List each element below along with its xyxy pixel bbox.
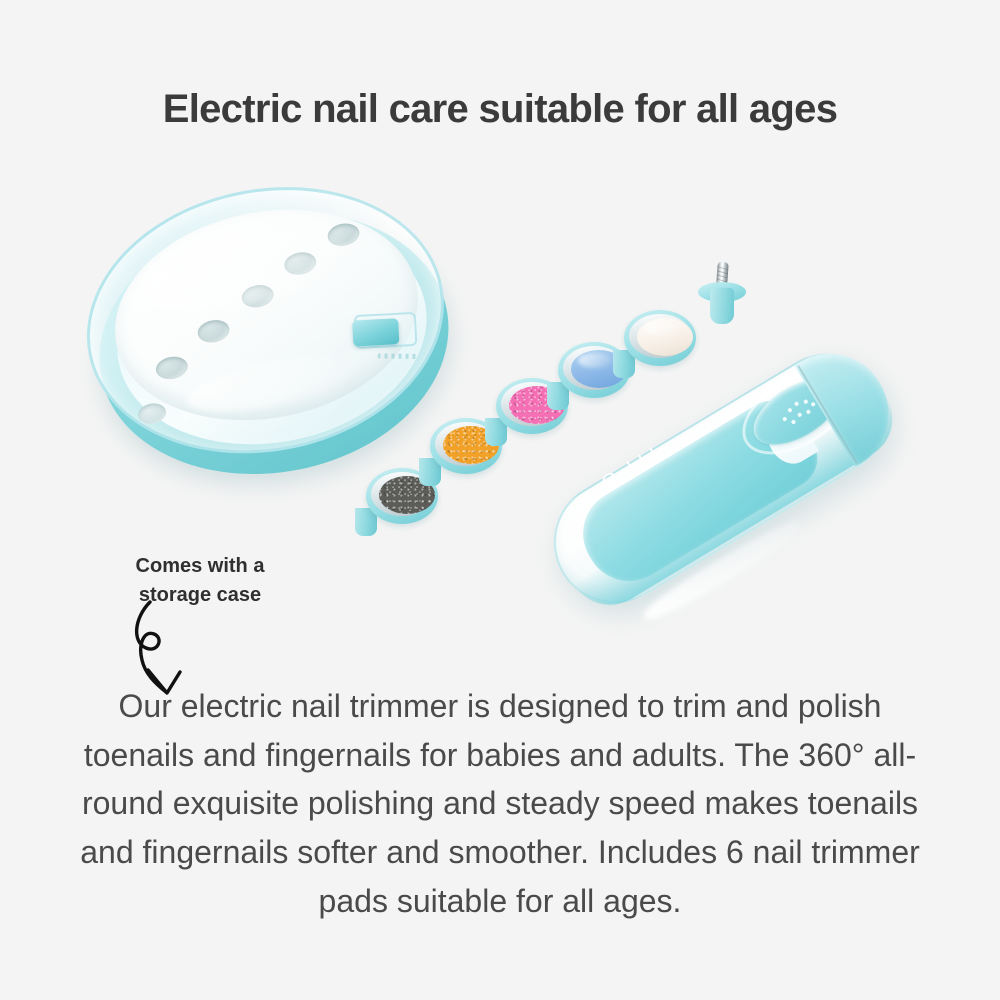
- pad-highlight: [644, 321, 679, 336]
- description-paragraph: Our electric nail trimmer is designed to…: [62, 682, 938, 925]
- pad-surface-cream: [637, 318, 693, 356]
- lid-highlight: [135, 214, 355, 325]
- case-vents: [378, 353, 418, 359]
- case-clasp[interactable]: [352, 318, 399, 346]
- pad-slot: [196, 317, 232, 345]
- annotation-line-1: Comes with a: [60, 552, 340, 581]
- tray-highlight: [182, 347, 357, 423]
- annotation-line-2: storage case: [60, 581, 340, 610]
- pad-metal-cone-tip: [698, 262, 746, 324]
- product-marketing-image: Electric nail care suitable for all ages: [0, 0, 1000, 1000]
- annotation-caption: Comes with a storage case: [60, 552, 340, 610]
- tip-slot: [136, 401, 167, 426]
- pad-highlight: [578, 353, 613, 368]
- page-title: Electric nail care suitable for all ages: [0, 86, 1000, 132]
- pad-slot: [154, 354, 190, 382]
- tip-stem: [710, 288, 734, 324]
- pad-metal-ring: [629, 314, 691, 358]
- case-transparent-lid: [64, 157, 467, 483]
- pad-head: [624, 310, 696, 366]
